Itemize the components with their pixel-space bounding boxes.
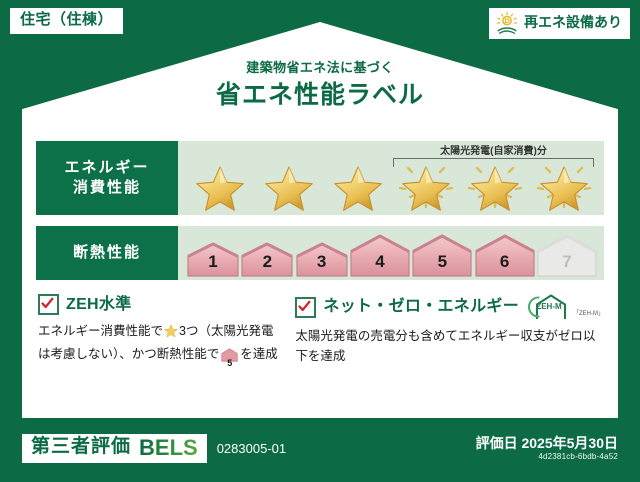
insulation-level-number: 2 (240, 252, 294, 272)
renewable-chip-label: 再エネ設備あり (524, 15, 622, 30)
insulation-level-1: 1 (186, 242, 240, 278)
insulation-performance-key: 断熱性能 (36, 226, 178, 280)
criterion-zeh-body: エネルギー消費性能で3つ（太陽光発電は考慮しない）、かつ断熱性能で5を達成 (38, 321, 279, 369)
bels-badge: 第三者評価 BELS (22, 434, 207, 463)
insulation-performance-value: 1234567 (178, 226, 604, 280)
insulation-level-7: 7 (536, 234, 598, 278)
check-icon (38, 294, 59, 315)
label-inner-panel: 建築物省エネ法に基づく 省エネ性能ラベル エネルギー 消費性能 太陽光発電(自家… (22, 22, 618, 418)
energy-performance-row: エネルギー 消費性能 太陽光発電(自家消費)分 (36, 141, 604, 215)
insulation-level-number: 7 (536, 252, 598, 272)
criterion-zeh-title: ZEH水準 (66, 296, 132, 314)
criteria-section: ZEH水準 エネルギー消費性能で3つ（太陽光発電は考慮しない）、かつ断熱性能で5… (38, 294, 604, 369)
star-icon-solar (392, 158, 460, 212)
bels-en-label: BELS (139, 437, 198, 459)
insulation-level-5: 5 (411, 234, 473, 278)
solar-sun-icon (495, 11, 519, 35)
star-icon-solar (530, 158, 598, 212)
label-footer: 第三者評価 BELS 0283005-01 評価日 2025年5月30日 4d2… (22, 428, 618, 468)
criterion-nze-header: ネット・ゼロ・エネルギー ZEH-M 「ZEH-M」 (295, 294, 604, 320)
zeh-m-logo-caption: 「ZEH-M」 (573, 308, 604, 320)
label-title-main: 省エネ性能ラベル (22, 80, 618, 111)
insulation-level-6: 6 (474, 234, 536, 278)
solar-bracket-label: 太陽光発電(自家消費)分 (391, 142, 596, 157)
house-type-chip-label: 住宅（住棟） (20, 11, 113, 28)
energy-performance-value: 太陽光発電(自家消費)分 (178, 141, 604, 215)
house-type-chip: 住宅（住棟） (10, 8, 123, 34)
footer-right-block: 評価日 2025年5月30日 4d2381cb-6bdb-4a52 (476, 435, 618, 462)
insulation-badge-number: 5 (221, 359, 238, 368)
zeh-body-part1: エネルギー消費性能で (38, 324, 163, 338)
star-icon (324, 158, 392, 212)
label-title-sub: 建築物省エネ法に基づく (22, 60, 618, 76)
energy-key-line1: エネルギー (64, 158, 149, 178)
zeh-m-logo: ZEH-M 「ZEH-M」 (527, 294, 604, 320)
star-icon-solar (461, 158, 529, 212)
check-icon (295, 297, 316, 318)
insulation-key-label: 断熱性能 (73, 243, 141, 263)
criterion-nze-title: ネット・ゼロ・エネルギー (323, 298, 519, 316)
insulation-performance-row: 断熱性能 1234567 (36, 226, 604, 280)
insulation-level-number: 5 (411, 252, 473, 272)
star-icon (186, 158, 254, 212)
star-icon-inline (164, 327, 178, 341)
label-title-block: 建築物省エネ法に基づく 省エネ性能ラベル (22, 60, 618, 111)
criterion-nze-body: 太陽光発電の売電分も含めてエネルギー収支がゼロ以下を達成 (295, 326, 604, 367)
insulation-badge-inline: 5 (221, 348, 238, 368)
insulation-level-number: 1 (186, 252, 240, 272)
zeh-m-logo-text: ZEH-M (527, 303, 571, 311)
certificate-number: 0283005-01 (217, 441, 286, 456)
renewable-equipment-chip: 再エネ設備あり (489, 8, 630, 39)
insulation-level-number: 3 (295, 252, 349, 272)
zeh-body-part3: を達成 (240, 347, 278, 361)
energy-star-strip (186, 158, 598, 212)
insulation-level-3: 3 (295, 242, 349, 278)
insulation-level-number: 6 (474, 252, 536, 272)
criterion-zeh-header: ZEH水準 (38, 294, 279, 315)
bels-jp-label: 第三者評価 (31, 437, 131, 458)
energy-key-line2: 消費性能 (73, 178, 141, 198)
star-icon (255, 158, 323, 212)
insulation-level-number: 4 (349, 252, 411, 272)
evaluation-hash: 4d2381cb-6bdb-4a52 (476, 452, 618, 461)
insulation-level-4: 4 (349, 234, 411, 278)
evaluation-date: 評価日 2025年5月30日 (476, 435, 618, 452)
energy-performance-key: エネルギー 消費性能 (36, 141, 178, 215)
insulation-house-strip: 1234567 (186, 234, 598, 278)
energy-performance-label: 住宅（住棟） 再エネ設備あり (0, 0, 640, 482)
criterion-net-zero-energy: ネット・ゼロ・エネルギー ZEH-M 「ZEH-M」 太陽光発電の売電分も含めて… (295, 294, 604, 369)
zeh-m-house-icon: ZEH-M (527, 294, 571, 320)
insulation-level-2: 2 (240, 242, 294, 278)
criterion-zeh: ZEH水準 エネルギー消費性能で3つ（太陽光発電は考慮しない）、かつ断熱性能で5… (38, 294, 279, 369)
